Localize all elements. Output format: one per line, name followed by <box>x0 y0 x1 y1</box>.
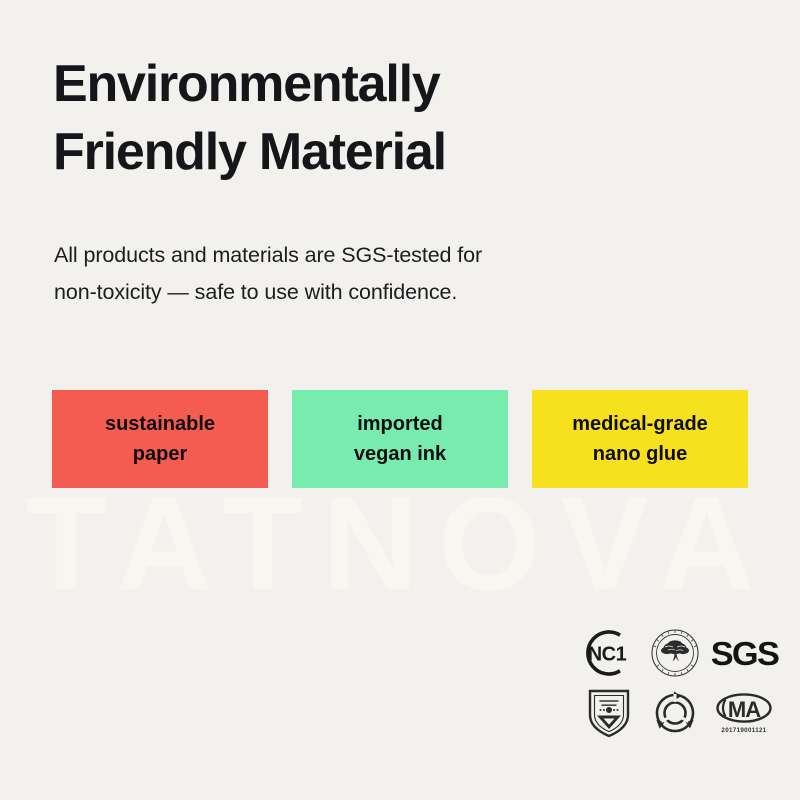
badge-sustainable-paper: sustainable paper <box>52 390 268 488</box>
svg-text:MA: MA <box>728 697 761 722</box>
sgs-wordmark-icon: SGS <box>710 624 772 682</box>
page-title-line-2: Friendly Material <box>53 119 673 187</box>
page-subtitle-line-1: All products and materials are SGS-teste… <box>54 243 482 267</box>
page-title: Environmentally Friendly Material <box>53 51 673 186</box>
page-subtitle: All products and materials are SGS-teste… <box>54 237 654 311</box>
badge-medical-grade-nano-glue-line-2: nano glue <box>593 439 687 469</box>
badge-sustainable-paper-line-2: paper <box>133 439 187 469</box>
badge-imported-vegan-ink-line-1: imported <box>357 409 443 439</box>
sgs-wordmark-label: SGS <box>710 637 777 670</box>
svg-text:NC1: NC1 <box>588 644 627 666</box>
brand-watermark: TATNOVA <box>0 478 800 610</box>
badge-medical-grade-nano-glue: medical-grade nano glue <box>532 390 748 488</box>
badge-medical-grade-nano-glue-line-1: medical-grade <box>572 409 708 439</box>
page-title-line-1: Environmentally <box>53 55 440 113</box>
recycling-arrows-icon <box>644 684 706 742</box>
cma-mark-icon: MA 201719001121 <box>710 684 772 742</box>
certification-logo-grid: NC1 <box>578 624 778 742</box>
shield-chevron-icon <box>578 684 640 742</box>
cma-certificate-number: 201719001121 <box>721 727 766 734</box>
nc1-circle-icon: NC1 <box>578 624 640 682</box>
material-badge-list: sustainable paper imported vegan ink med… <box>52 390 748 488</box>
badge-imported-vegan-ink-line-2: vegan ink <box>354 439 446 469</box>
page-subtitle-line-2: non-toxicity — safe to use with confiden… <box>54 274 654 311</box>
badge-sustainable-paper-line-1: sustainable <box>105 409 215 439</box>
badge-imported-vegan-ink: imported vegan ink <box>292 390 508 488</box>
fsc-tree-seal-icon <box>644 624 706 682</box>
